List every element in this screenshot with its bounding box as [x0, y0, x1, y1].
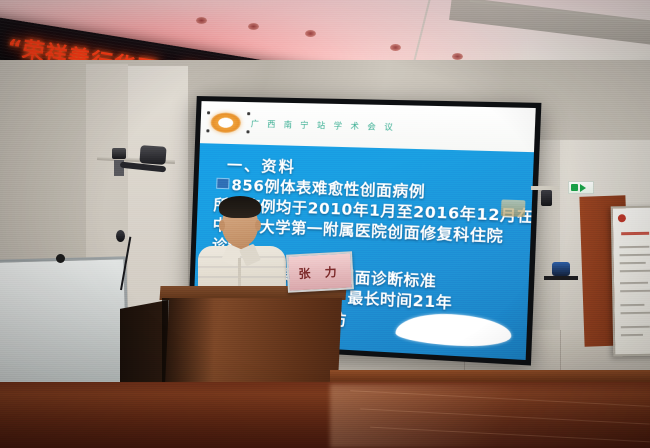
- nameplate-text: 张 力: [298, 262, 342, 281]
- wall-notice-board: [611, 206, 650, 357]
- wall-camera-icon: [541, 190, 552, 206]
- wall-speaker-icon: [552, 262, 570, 276]
- notice-text-line: [621, 312, 650, 314]
- exit-arrow-icon: [580, 184, 586, 192]
- notice-text-line: [620, 290, 650, 292]
- ceiling-projector-icon: [139, 145, 166, 165]
- ceiling-light-dot: [196, 17, 207, 24]
- presenter-ear: [255, 220, 261, 231]
- notice-text-line: [620, 304, 644, 306]
- notice-text-line: [620, 254, 650, 256]
- header-dot: [247, 112, 250, 115]
- conference-emblem-logo: [210, 112, 241, 133]
- presenter-hair: [219, 196, 261, 218]
- notice-text-line: [619, 246, 649, 248]
- slide-wave-decoration: [395, 311, 512, 348]
- header-dot: [206, 129, 209, 132]
- notice-text-line: [620, 282, 648, 284]
- bullet-square-icon: [216, 178, 229, 189]
- ceiling-light-dot: [248, 23, 259, 30]
- ceiling-light-dot: [305, 30, 316, 37]
- whiteboard-knob: [56, 254, 65, 263]
- notice-text-line: [620, 262, 646, 264]
- conference-hall-photo: “荣祥善行华夏--烧伤创疡再生医疗技术基层推广健康行”（广西南宁站） 广 西 南…: [0, 0, 650, 448]
- emergency-exit-sign: [568, 181, 594, 194]
- wall-camera-icon: [112, 148, 126, 159]
- presenter-ear: [219, 220, 225, 231]
- header-dot: [207, 111, 210, 114]
- notice-text-line: [620, 270, 650, 272]
- slide-corner-graphic: [501, 199, 526, 217]
- ceiling-light-dot: [390, 44, 401, 51]
- shirt-stripe: [198, 266, 286, 268]
- notice-text-line: [621, 326, 650, 328]
- notice-heading-rule: [621, 232, 649, 235]
- slide-header-text: 广 西 南 宁 站 学 术 会 议: [251, 118, 397, 133]
- notice-emblem-icon: [618, 214, 626, 222]
- notice-text-line: [621, 334, 643, 336]
- speaker-mount-shelf: [544, 276, 578, 280]
- shirt-stripe: [198, 276, 286, 278]
- speaker-nameplate: 张 力: [286, 251, 354, 292]
- wall-seam: [560, 330, 561, 372]
- microphone-icon: [116, 230, 125, 242]
- whiteboard: [0, 256, 130, 389]
- exit-person-icon: [571, 184, 578, 191]
- header-dot: [246, 130, 249, 133]
- ceiling-light-dot: [452, 53, 463, 60]
